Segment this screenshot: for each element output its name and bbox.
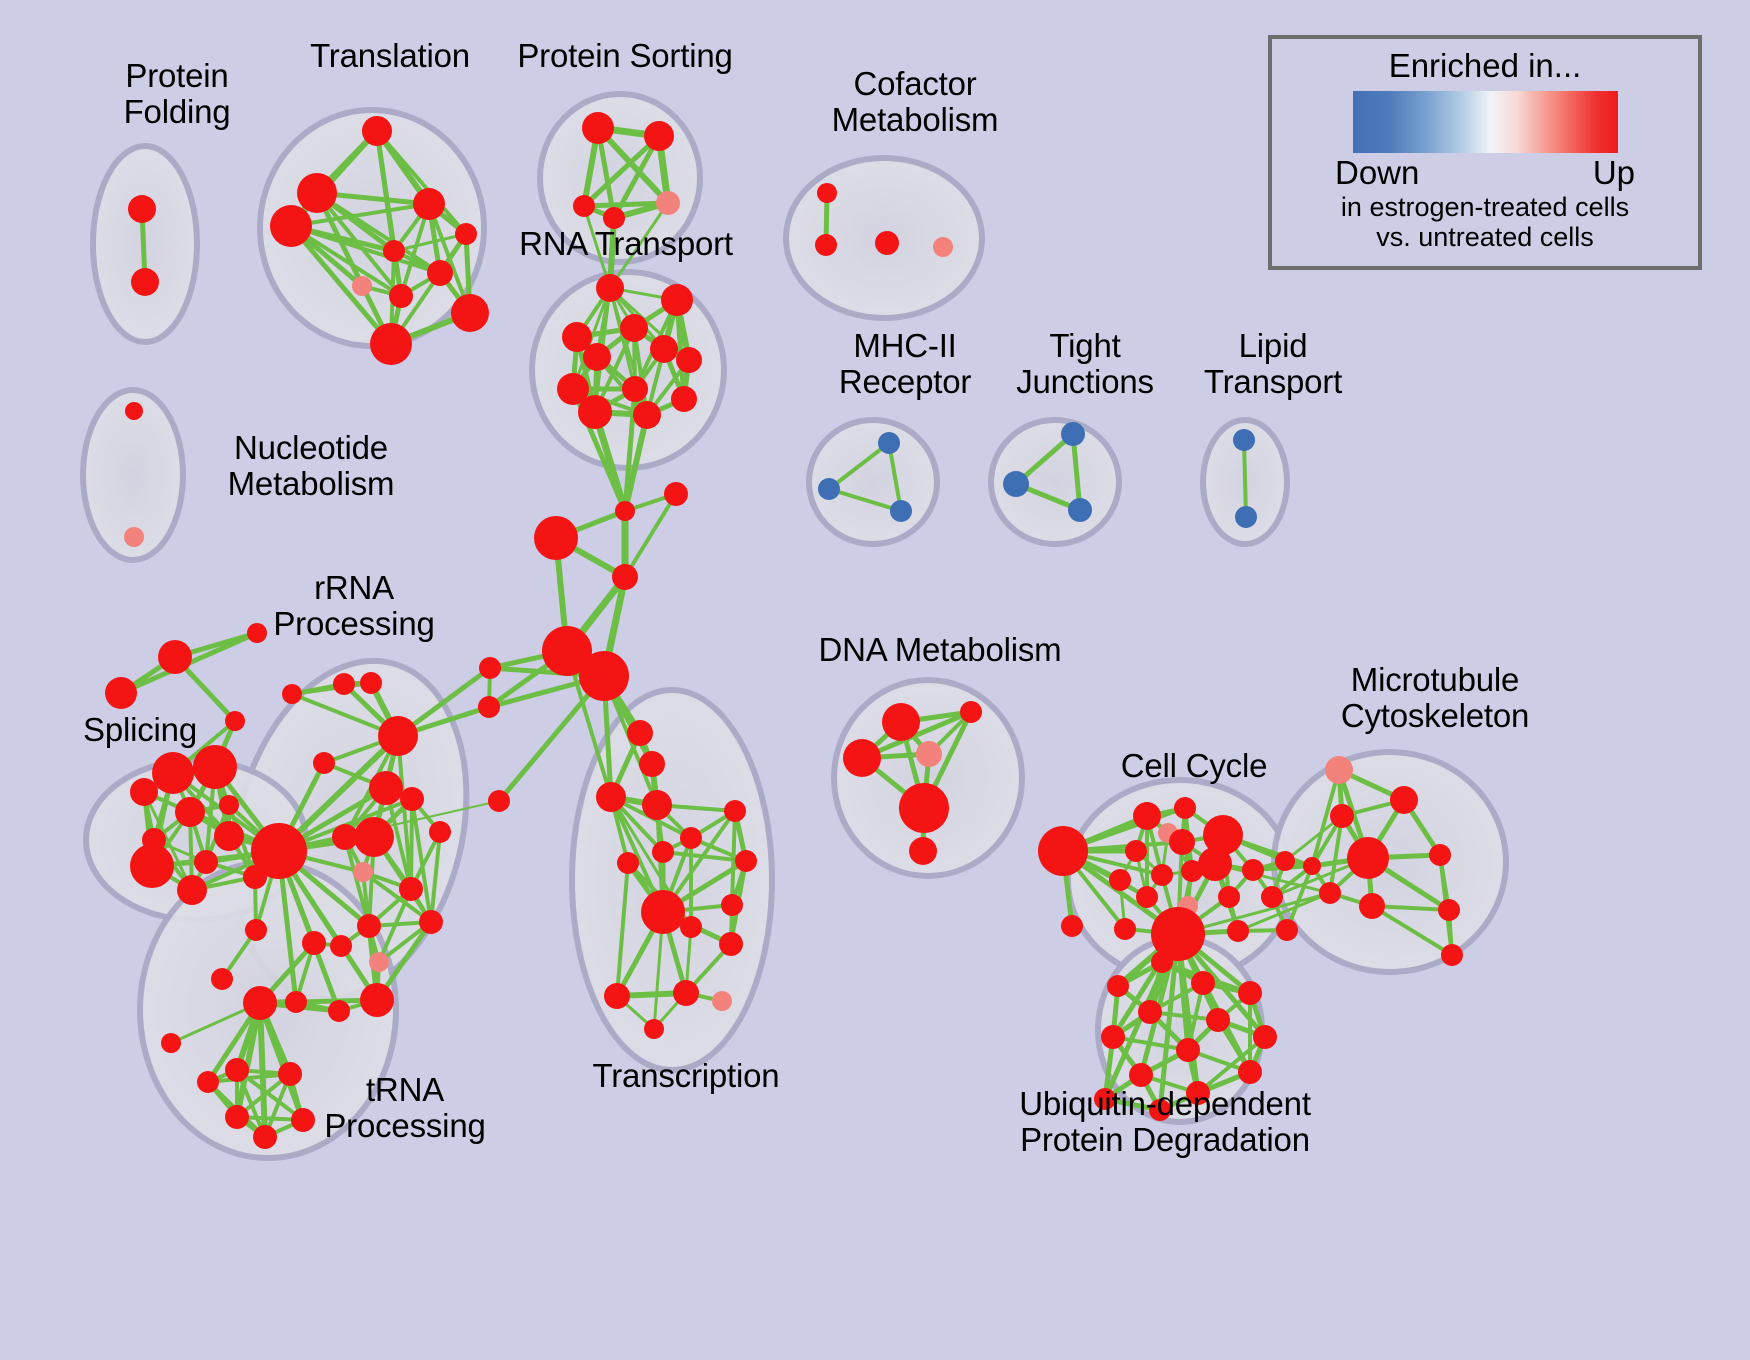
cluster-label-line: Receptor	[805, 364, 1005, 400]
network-node[interactable]	[124, 527, 144, 547]
cluster-label-cofactor-metabolism: CofactorMetabolism	[800, 66, 1030, 137]
cluster-label-line: Metabolism	[800, 102, 1030, 138]
network-node[interactable]	[661, 284, 693, 316]
network-node[interactable]	[1261, 886, 1283, 908]
cluster-label-line: Protein Degradation	[995, 1122, 1335, 1158]
network-node[interactable]	[680, 827, 702, 849]
network-node[interactable]	[362, 116, 392, 146]
cluster-label-rrna-processing: rRNAProcessing	[254, 570, 454, 641]
cluster-label-transcription: Transcription	[576, 1058, 796, 1094]
cluster-label-line: Metabolism	[196, 466, 426, 502]
network-node[interactable]	[211, 968, 233, 990]
network-node[interactable]	[1218, 886, 1240, 908]
network-node[interactable]	[1233, 429, 1255, 451]
network-node[interactable]	[225, 1058, 249, 1082]
network-node[interactable]	[369, 771, 403, 805]
network-node[interactable]	[583, 343, 611, 371]
network-node[interactable]	[1319, 882, 1341, 904]
network-node[interactable]	[245, 919, 267, 941]
network-node[interactable]	[488, 790, 510, 812]
network-node[interactable]	[596, 782, 626, 812]
network-node[interactable]	[1138, 1000, 1162, 1024]
network-node[interactable]	[712, 991, 732, 1011]
network-node[interactable]	[1238, 1060, 1262, 1084]
network-node[interactable]	[1238, 981, 1262, 1005]
cluster-label-line: Folding	[82, 94, 272, 130]
network-node[interactable]	[194, 850, 218, 874]
network-node[interactable]	[1191, 971, 1215, 995]
cluster-label-line: Transcription	[576, 1058, 796, 1094]
network-node[interactable]	[664, 482, 688, 506]
network-node[interactable]	[1390, 786, 1418, 814]
network-node[interactable]	[1136, 886, 1158, 908]
network-node[interactable]	[617, 852, 639, 874]
network-node[interactable]	[128, 195, 156, 223]
network-node[interactable]	[1303, 857, 1321, 875]
cluster-label-line: Tight	[990, 328, 1180, 364]
network-node[interactable]	[1275, 851, 1295, 871]
cluster-label-trna-processing: tRNAProcessing	[305, 1072, 505, 1143]
cluster-label-line: Microtubule	[1310, 662, 1560, 698]
network-node[interactable]	[360, 672, 382, 694]
network-node[interactable]	[285, 991, 307, 1013]
network-node[interactable]	[354, 817, 394, 857]
network-node[interactable]	[578, 395, 612, 429]
network-node[interactable]	[671, 386, 697, 412]
network-edge	[260, 1000, 377, 1003]
network-node[interactable]	[1181, 860, 1203, 882]
cluster-label-ubiquitin-degradation: Ubiquitin-dependentProtein Degradation	[995, 1086, 1335, 1157]
network-node[interactable]	[899, 783, 949, 833]
cluster-label-line: RNA Transport	[506, 226, 746, 262]
network-node[interactable]	[193, 745, 237, 789]
network-node[interactable]	[960, 701, 982, 723]
network-node[interactable]	[604, 983, 630, 1009]
cluster-label-line: Protein	[82, 58, 272, 94]
cluster-label-line: MHC-II	[805, 328, 1005, 364]
network-node[interactable]	[1206, 1008, 1230, 1032]
cluster-label-tight-junctions: TightJunctions	[990, 328, 1180, 399]
network-node[interactable]	[817, 183, 837, 203]
network-node[interactable]	[1330, 804, 1354, 828]
network-node[interactable]	[1235, 506, 1257, 528]
cluster-label-line: DNA Metabolism	[810, 632, 1070, 668]
network-node[interactable]	[1003, 471, 1029, 497]
network-figure: ProteinFoldingTranslationProtein Sorting…	[0, 0, 1750, 1360]
network-edge	[1244, 440, 1246, 517]
legend-caption-line2: vs. untreated cells	[1376, 222, 1594, 252]
network-node[interactable]	[455, 223, 477, 245]
network-node[interactable]	[1276, 919, 1298, 941]
network-node[interactable]	[332, 824, 358, 850]
network-node[interactable]	[158, 640, 192, 674]
network-node[interactable]	[1068, 498, 1092, 522]
cluster-label-rna-transport: RNA Transport	[506, 226, 746, 262]
network-node[interactable]	[620, 314, 648, 342]
cluster-label-cell-cycle: Cell Cycle	[1104, 748, 1284, 784]
network-node[interactable]	[644, 1019, 664, 1039]
network-node[interactable]	[534, 516, 578, 560]
network-node[interactable]	[582, 112, 614, 144]
network-node[interactable]	[214, 821, 244, 851]
cluster-label-mhc-ii-receptor: MHC-IIReceptor	[805, 328, 1005, 399]
network-node[interactable]	[125, 402, 143, 420]
network-node[interactable]	[676, 347, 702, 373]
network-node[interactable]	[622, 376, 648, 402]
legend-title: Enriched in...	[1389, 47, 1582, 85]
network-node[interactable]	[909, 837, 937, 865]
network-node[interactable]	[399, 877, 423, 901]
network-node[interactable]	[1129, 1063, 1153, 1087]
network-node[interactable]	[1114, 918, 1136, 940]
network-node[interactable]	[627, 720, 653, 746]
cluster-label-microtubule-cytoskeleton: MicrotubuleCytoskeleton	[1310, 662, 1560, 733]
network-node[interactable]	[1151, 951, 1173, 973]
network-node[interactable]	[225, 711, 245, 731]
network-node[interactable]	[641, 890, 685, 934]
network-node[interactable]	[478, 696, 500, 718]
network-node[interactable]	[882, 703, 920, 741]
network-node[interactable]	[916, 741, 942, 767]
network-node[interactable]	[1151, 864, 1173, 886]
network-node[interactable]	[724, 800, 746, 822]
network-node[interactable]	[429, 821, 451, 843]
cluster-label-line: Lipid	[1178, 328, 1368, 364]
cluster-label-line: rRNA	[254, 570, 454, 606]
network-node[interactable]	[352, 276, 372, 296]
cluster-label-line: Splicing	[60, 712, 220, 748]
network-node[interactable]	[130, 778, 158, 806]
network-node[interactable]	[253, 1125, 277, 1149]
network-node[interactable]	[105, 677, 137, 709]
legend-low-label: Down	[1335, 154, 1419, 192]
network-node[interactable]	[330, 935, 352, 957]
network-node[interactable]	[479, 657, 501, 679]
cluster-label-line: Translation	[290, 38, 490, 74]
network-node[interactable]	[878, 432, 900, 454]
network-node[interactable]	[353, 862, 373, 882]
network-node[interactable]	[1107, 975, 1129, 997]
network-node[interactable]	[1242, 859, 1264, 881]
network-node[interactable]	[328, 1000, 350, 1022]
network-node[interactable]	[612, 564, 638, 590]
network-node[interactable]	[1169, 829, 1195, 855]
network-node[interactable]	[400, 787, 424, 811]
network-node[interactable]	[721, 894, 743, 916]
network-node[interactable]	[219, 795, 239, 815]
cluster-label-dna-metabolism: DNA Metabolism	[810, 632, 1070, 668]
network-node[interactable]	[1347, 837, 1389, 879]
network-node[interactable]	[656, 191, 680, 215]
network-node[interactable]	[1101, 1025, 1125, 1049]
network-node[interactable]	[843, 739, 881, 777]
network-node[interactable]	[1253, 1025, 1277, 1049]
network-node[interactable]	[875, 231, 899, 255]
cluster-label-line: Cell Cycle	[1104, 748, 1284, 784]
network-node[interactable]	[131, 268, 159, 296]
network-node[interactable]	[251, 823, 307, 879]
network-node[interactable]	[1038, 826, 1088, 876]
network-node[interactable]	[1325, 756, 1353, 784]
network-node[interactable]	[1061, 422, 1085, 446]
network-node[interactable]	[1429, 844, 1451, 866]
cluster-label-line: Cofactor	[800, 66, 1030, 102]
cluster-label-translation: Translation	[290, 38, 490, 74]
network-node[interactable]	[1359, 893, 1385, 919]
cluster-label-line: Junctions	[990, 364, 1180, 400]
network-node[interactable]	[1125, 840, 1147, 862]
network-node[interactable]	[673, 980, 699, 1006]
legend-panel: Enriched in... Down Up in estrogen-treat…	[1268, 35, 1702, 270]
network-node[interactable]	[278, 1062, 302, 1086]
network-node[interactable]	[378, 716, 418, 756]
color-gradient-bar	[1353, 91, 1618, 153]
network-node[interactable]	[427, 260, 453, 286]
cluster-label-protein-folding: ProteinFolding	[82, 58, 272, 129]
network-node[interactable]	[639, 751, 665, 777]
network-node[interactable]	[369, 952, 389, 972]
network-node[interactable]	[573, 195, 595, 217]
network-node[interactable]	[735, 850, 757, 872]
network-node[interactable]	[890, 500, 912, 522]
cluster-label-line: tRNA	[305, 1072, 505, 1108]
network-node[interactable]	[270, 205, 312, 247]
cluster-label-line: Transport	[1178, 364, 1368, 400]
cluster-label-splicing: Splicing	[60, 712, 220, 748]
network-node[interactable]	[313, 752, 335, 774]
network-node[interactable]	[413, 188, 445, 220]
network-node[interactable]	[225, 1105, 249, 1129]
network-node[interactable]	[652, 841, 674, 863]
network-node[interactable]	[933, 237, 953, 257]
cluster-label-line: Ubiquitin-dependent	[995, 1086, 1335, 1122]
network-node[interactable]	[650, 335, 678, 363]
network-node[interactable]	[1176, 1038, 1200, 1062]
network-node[interactable]	[1109, 869, 1131, 891]
cluster-label-line: Processing	[305, 1108, 505, 1144]
cluster-label-protein-sorting: Protein Sorting	[505, 38, 745, 74]
cluster-label-line: Processing	[254, 606, 454, 642]
network-node[interactable]	[719, 932, 743, 956]
network-node[interactable]	[197, 1071, 219, 1093]
network-node[interactable]	[282, 684, 302, 704]
network-node[interactable]	[615, 501, 635, 521]
network-node[interactable]	[360, 983, 394, 1017]
network-node[interactable]	[642, 790, 672, 820]
network-node[interactable]	[1438, 899, 1460, 921]
network-node[interactable]	[451, 294, 489, 332]
cluster-label-lipid-transport: LipidTransport	[1178, 328, 1368, 399]
network-node[interactable]	[383, 240, 405, 262]
network-node[interactable]	[579, 651, 629, 701]
legend-high-label: Up	[1593, 154, 1635, 192]
network-node[interactable]	[161, 1033, 181, 1053]
network-node[interactable]	[1441, 944, 1463, 966]
cluster-label-line: Protein Sorting	[505, 38, 745, 74]
network-node[interactable]	[1061, 915, 1083, 937]
network-node[interactable]	[389, 284, 413, 308]
network-node[interactable]	[370, 323, 412, 365]
network-node[interactable]	[680, 916, 702, 938]
network-node[interactable]	[302, 931, 326, 955]
cluster-label-nucleotide-metabolism: NucleotideMetabolism	[196, 430, 426, 501]
network-node[interactable]	[1227, 920, 1249, 942]
network-node[interactable]	[152, 752, 194, 794]
cluster-label-line: Nucleotide	[196, 430, 426, 466]
network-node[interactable]	[297, 173, 337, 213]
network-node[interactable]	[633, 401, 661, 429]
network-node[interactable]	[818, 478, 840, 500]
network-node[interactable]	[357, 914, 381, 938]
network-node[interactable]	[175, 797, 205, 827]
network-node[interactable]	[333, 673, 355, 695]
cluster-label-line: Cytoskeleton	[1310, 698, 1560, 734]
network-node[interactable]	[419, 910, 443, 934]
network-node[interactable]	[596, 274, 624, 302]
network-node[interactable]	[644, 121, 674, 151]
legend-endpoints: Down Up	[1335, 154, 1635, 192]
legend-caption-line1: in estrogen-treated cells	[1341, 192, 1629, 222]
network-node[interactable]	[1133, 802, 1161, 830]
network-node[interactable]	[130, 844, 174, 888]
network-node[interactable]	[177, 875, 207, 905]
network-node[interactable]	[243, 986, 277, 1020]
network-node[interactable]	[1174, 797, 1196, 819]
network-node[interactable]	[1198, 847, 1232, 881]
network-node[interactable]	[815, 234, 837, 256]
